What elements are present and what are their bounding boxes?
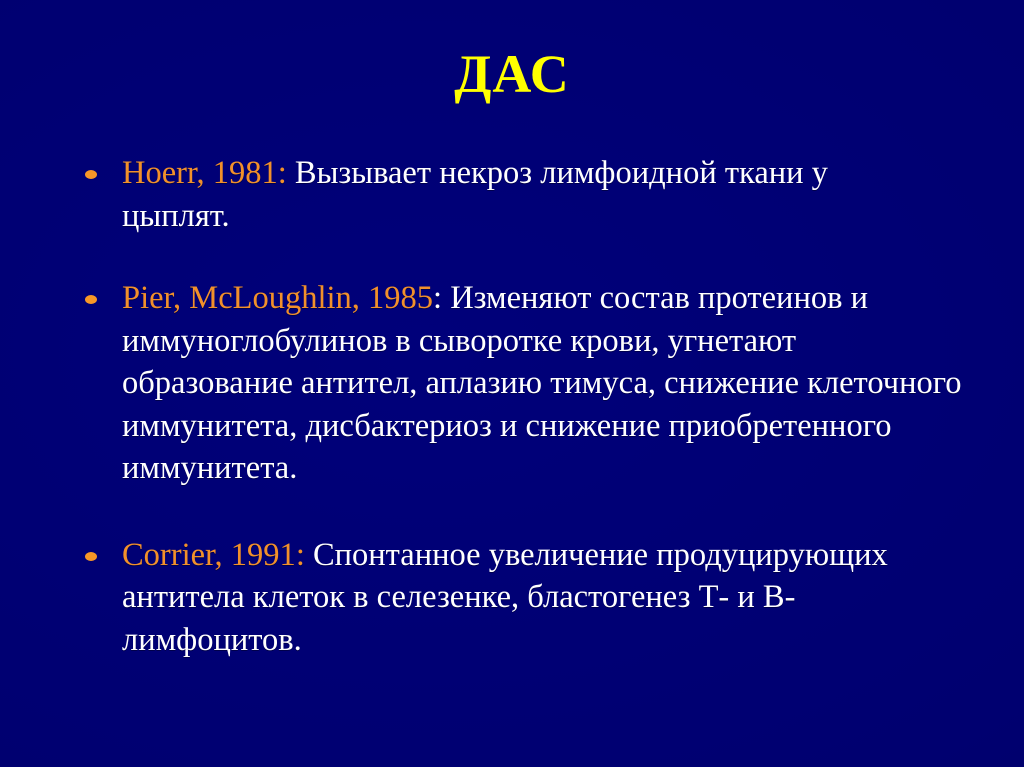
list-item: Corrier, 1991: Спонтанное увеличение про…	[74, 534, 952, 662]
list-item-content: Pier, McLoughlin, 1985: Изменяют состав …	[122, 277, 962, 490]
bullet-dot-icon	[85, 170, 97, 179]
citation-reference: Corrier, 1991	[122, 537, 296, 573]
list-item: Hoerr, 1981: Вызывает некроз лимфоидной …	[74, 152, 922, 237]
list-item-content: Corrier, 1991: Спонтанное увеличение про…	[122, 534, 952, 662]
presentation-slide: ДАС Hoerr, 1981: Вызывает некроз лимфоид…	[0, 0, 1024, 767]
citation-reference: Pier, McLoughlin, 1985	[122, 280, 433, 316]
bullet-dot-icon	[85, 295, 97, 304]
list-item: Pier, McLoughlin, 1985: Изменяют состав …	[74, 277, 962, 490]
citation-colon: :	[433, 280, 442, 316]
bullet-dot-icon	[85, 552, 97, 561]
list-item-content: Hoerr, 1981: Вызывает некроз лимфоидной …	[122, 152, 922, 237]
citation-colon: :	[278, 155, 287, 191]
slide-title: ДАС	[0, 46, 1024, 102]
bullet-list: Hoerr, 1981: Вызывает некроз лимфоидной …	[74, 152, 954, 661]
citation-colon: :	[296, 537, 305, 573]
citation-reference: Hoerr, 1981	[122, 155, 278, 191]
